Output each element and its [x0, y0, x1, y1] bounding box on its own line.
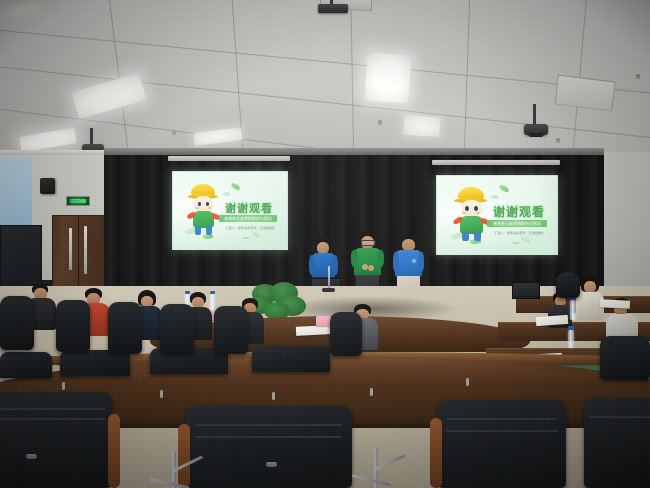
sprinkler-head [636, 74, 640, 79]
conference-room-photo: 安全出口 [0, 0, 650, 488]
audience-member [576, 276, 608, 320]
slide-band: 感谢各位老师的聆听与指导 [487, 220, 547, 227]
slide-title: 谢谢观看 [493, 203, 545, 220]
conference-chair[interactable] [160, 304, 194, 354]
exit-sign-text: 安全出口 [70, 199, 86, 203]
slide-left: 谢谢观看 感谢各位老师的聆听与指导 汇报人：张明 指导老师：王建国教授 2017 [173, 172, 287, 249]
conference-chair[interactable] [0, 392, 112, 488]
laptop [512, 282, 540, 299]
desk-microphone [328, 266, 330, 290]
slide-footer: 2017 [513, 241, 520, 245]
slide-mascot-icon [184, 184, 224, 236]
screen-valance-left [168, 156, 290, 161]
ceiling-light-panel [71, 73, 146, 119]
water-bottle [568, 330, 574, 348]
presenter-glasses-icon [361, 240, 376, 246]
window-left [0, 158, 32, 228]
wall-speaker-icon [40, 178, 55, 194]
ceiling-light-panel [0, 0, 41, 21]
wall-right [596, 152, 650, 292]
sprinkler-head [556, 138, 560, 143]
slide-subtitle: 汇报人：张明 指导老师：王建国教授 [489, 231, 549, 235]
conference-chair[interactable] [186, 406, 352, 488]
paper-documents [600, 299, 630, 309]
conference-chair[interactable] [0, 296, 34, 350]
conference-chair[interactable] [584, 398, 650, 488]
conference-chair[interactable] [600, 336, 650, 380]
wall-monitor [0, 225, 42, 287]
door-left[interactable] [52, 215, 106, 289]
conference-chair[interactable] [556, 272, 580, 298]
exit-sign: 安全出口 [66, 196, 90, 206]
conference-chair[interactable] [438, 400, 566, 488]
sprinkler-head [378, 120, 382, 125]
ceiling [0, 0, 650, 172]
paper-documents [296, 325, 330, 336]
conference-chair[interactable] [330, 312, 362, 356]
ceiling-light-panel [193, 127, 242, 146]
conference-chair[interactable] [56, 300, 90, 352]
slide-title: 谢谢观看 [225, 200, 273, 216]
projection-screen-left: 谢谢观看 感谢各位老师的聆听与指导 汇报人：张明 指导老师：王建国教授 2017 [172, 171, 288, 250]
slide-band: 感谢各位老师的聆听与指导 [219, 215, 277, 222]
conference-chair[interactable] [252, 346, 330, 372]
slide-footer: 2017 [243, 236, 250, 240]
conference-chair[interactable] [214, 306, 248, 354]
conference-chair[interactable] [108, 302, 142, 354]
conference-chair[interactable] [0, 352, 52, 378]
curtain-rail [104, 148, 604, 155]
pink-box [316, 316, 331, 326]
slide-subtitle: 汇报人：张明 指导老师：王建国教授 [221, 226, 279, 230]
ceiling-vent [554, 75, 615, 112]
sprinkler-head [172, 130, 176, 135]
ceiling-light-panel [403, 115, 440, 137]
screen-valance-right [432, 160, 560, 165]
ceiling-light-panel [364, 53, 411, 104]
ceiling-light-panel [19, 127, 77, 152]
projection-screen-right: 谢谢观看 感谢各位老师的聆听与指导 汇报人：张明 指导老师：王建国教授 2017 [436, 175, 558, 255]
water-bottle [570, 300, 576, 320]
slide-right: 谢谢观看 感谢各位老师的聆听与指导 汇报人：张明 指导老师：王建国教授 2017 [437, 176, 557, 254]
slide-mascot-icon [450, 187, 492, 241]
